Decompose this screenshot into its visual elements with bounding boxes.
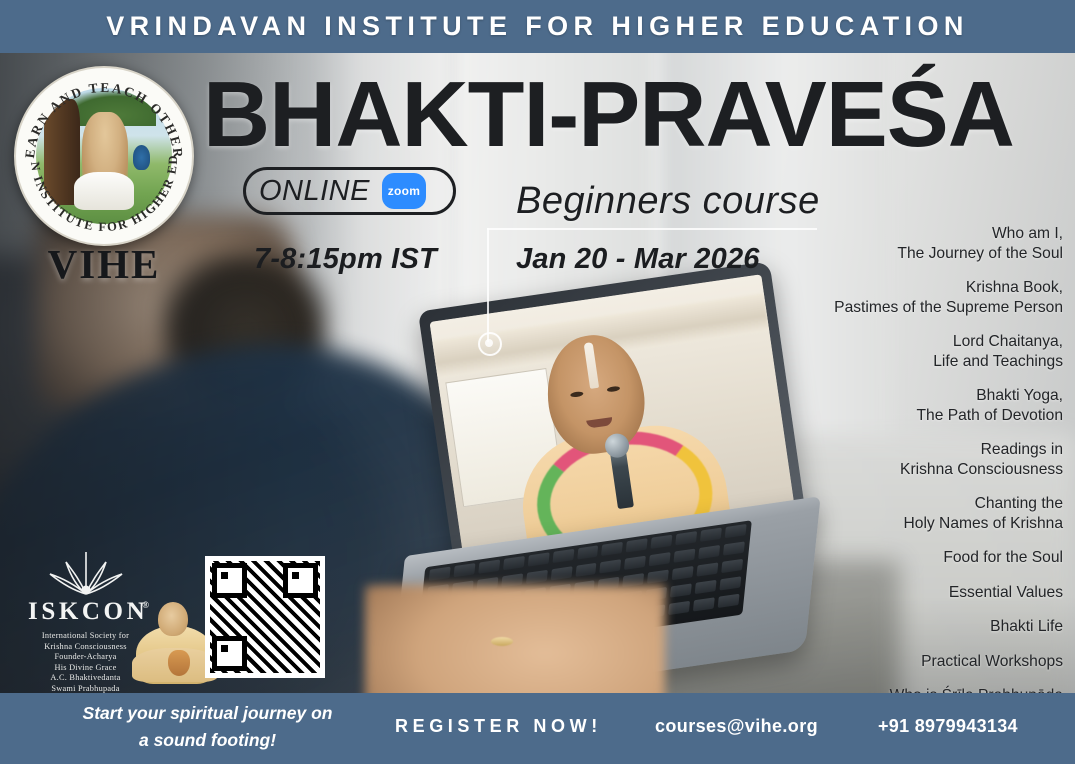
prabhupada-head: [158, 602, 188, 636]
topic-item: Lord Chaitanya,Life and Teachings: [733, 332, 1063, 371]
zoom-icon: zoom: [382, 173, 426, 209]
iskcon-line: Founder-Acharya: [28, 652, 143, 663]
footer-tagline: Start your spiritual journey ona sound f…: [60, 700, 355, 754]
course-dates: Jan 20 - Mar 2026: [516, 243, 760, 276]
iskcon-founder-text: International Society for Krishna Consci…: [28, 631, 143, 695]
online-label: ONLINE: [259, 175, 370, 208]
topic-item: Food for the Soul: [733, 548, 1063, 568]
speaker-eye-left: [570, 391, 584, 398]
qr-code-pattern: [210, 561, 320, 673]
speaker-eye-right: [607, 386, 621, 393]
seal-top-arc-textpath: LEARN AND TEACH OTHERS: [14, 66, 186, 160]
lotus-icon: [40, 548, 132, 596]
online-badge: ONLINE zoom: [243, 167, 456, 215]
header-bar: VRINDAVAN INSTITUTE FOR HIGHER EDUCATION: [0, 0, 1075, 53]
topic-item: Essential Values: [733, 583, 1063, 603]
topic-item: Bhakti Life: [733, 617, 1063, 637]
speaker-mouth: [586, 417, 613, 429]
institute-name: VRINDAVAN INSTITUTE FOR HIGHER EDUCATION: [106, 11, 969, 42]
poster: VRINDAVAN INSTITUTE FOR HIGHER EDUCATION…: [0, 0, 1075, 764]
seal-text: LEARN AND TEACH OTHERS VRINDAVAN INSTITU…: [14, 66, 194, 246]
register-now-cta[interactable]: REGISTER NOW!: [395, 716, 602, 737]
prabhupada-water-pot: [168, 650, 190, 676]
topic-item: Bhakti Yoga,The Path of Devotion: [733, 386, 1063, 425]
contact-email[interactable]: courses@vihe.org: [655, 716, 818, 737]
topic-item: Who am I,The Journey of the Soul: [733, 224, 1063, 263]
iskcon-line: Krishna Consciousness: [28, 642, 143, 653]
iskcon-line: International Society for: [28, 631, 143, 642]
course-subtitle: Beginners course: [516, 180, 820, 223]
iskcon-wordmark: ISKCON®: [28, 598, 143, 626]
course-timing: 7-8:15pm IST: [254, 243, 437, 276]
qr-finder-bottom-left: [212, 636, 247, 671]
topic-item: Readings inKrishna Consciousness: [733, 440, 1063, 479]
seal-top-arc-text: LEARN AND TEACH OTHERS: [14, 66, 186, 160]
topic-list: Who am I,The Journey of the Soul Krishna…: [733, 224, 1063, 706]
topic-item: Practical Workshops: [733, 652, 1063, 672]
tilak-mark: [584, 342, 599, 389]
qr-code[interactable]: [205, 556, 325, 678]
qr-finder-top-right: [283, 563, 318, 598]
topic-item: Chanting theHoly Names of Krishna: [733, 494, 1063, 533]
vihe-acronym: VIHE: [14, 240, 194, 288]
iskcon-logo-block: ISKCON® International Society for Krishn…: [28, 548, 143, 695]
vihe-seal-logo: LEARN AND TEACH OTHERS VRINDAVAN INSTITU…: [14, 66, 194, 246]
iskcon-line: His Divine Grace: [28, 663, 143, 674]
qr-finder-top-left: [212, 563, 247, 598]
contact-phone[interactable]: +91 8979943134: [878, 716, 1018, 737]
topic-item: Krishna Book,Pastimes of the Supreme Per…: [733, 278, 1063, 317]
iskcon-line: A.C. Bhaktivedanta: [28, 673, 143, 684]
finger-ring: [491, 637, 513, 646]
page-title: BHAKTI-PRAVEŚA: [203, 68, 1014, 161]
